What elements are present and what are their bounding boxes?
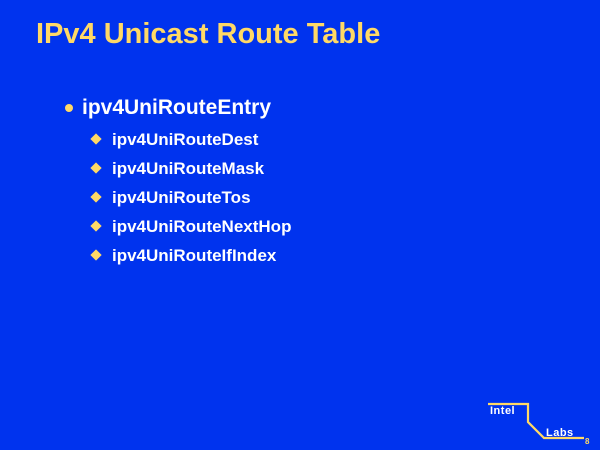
list-item-label: ipv4UniRouteTos <box>112 188 251 207</box>
list-item-level2: ipv4UniRouteDest <box>62 129 562 150</box>
list-item-label: ipv4UniRouteIfIndex <box>112 246 276 265</box>
list-item-level2: ipv4UniRouteMask <box>62 158 562 179</box>
list-item-level2: ipv4UniRouteTos <box>62 187 562 208</box>
round-bullet-icon <box>65 104 73 112</box>
diamond-bullet-icon <box>90 133 101 144</box>
page-title: IPv4 Unicast Route Table <box>36 18 380 51</box>
logo-text-intel: Intel <box>490 405 515 417</box>
bullet-list: ipv4UniRouteEntry ipv4UniRouteDest ipv4U… <box>62 95 562 274</box>
diamond-bullet-icon <box>90 162 101 173</box>
diamond-bullet-icon <box>90 191 101 202</box>
list-item-label: ipv4UniRouteNextHop <box>112 217 291 236</box>
list-item-level2: ipv4UniRouteIfIndex <box>62 245 562 266</box>
page-number: 8 <box>585 437 589 446</box>
list-item-label: ipv4UniRouteDest <box>112 130 258 149</box>
list-item-level2: ipv4UniRouteNextHop <box>62 216 562 237</box>
slide-canvas: IPv4 Unicast Route Table ipv4UniRouteEnt… <box>0 0 600 450</box>
list-item-label: ipv4UniRouteMask <box>112 159 264 178</box>
list-item-level1: ipv4UniRouteEntry <box>62 95 562 120</box>
logo-text-labs: Labs <box>546 427 574 439</box>
diamond-bullet-icon <box>90 220 101 231</box>
diamond-bullet-icon <box>90 249 101 260</box>
list-item-label: ipv4UniRouteEntry <box>82 96 271 119</box>
